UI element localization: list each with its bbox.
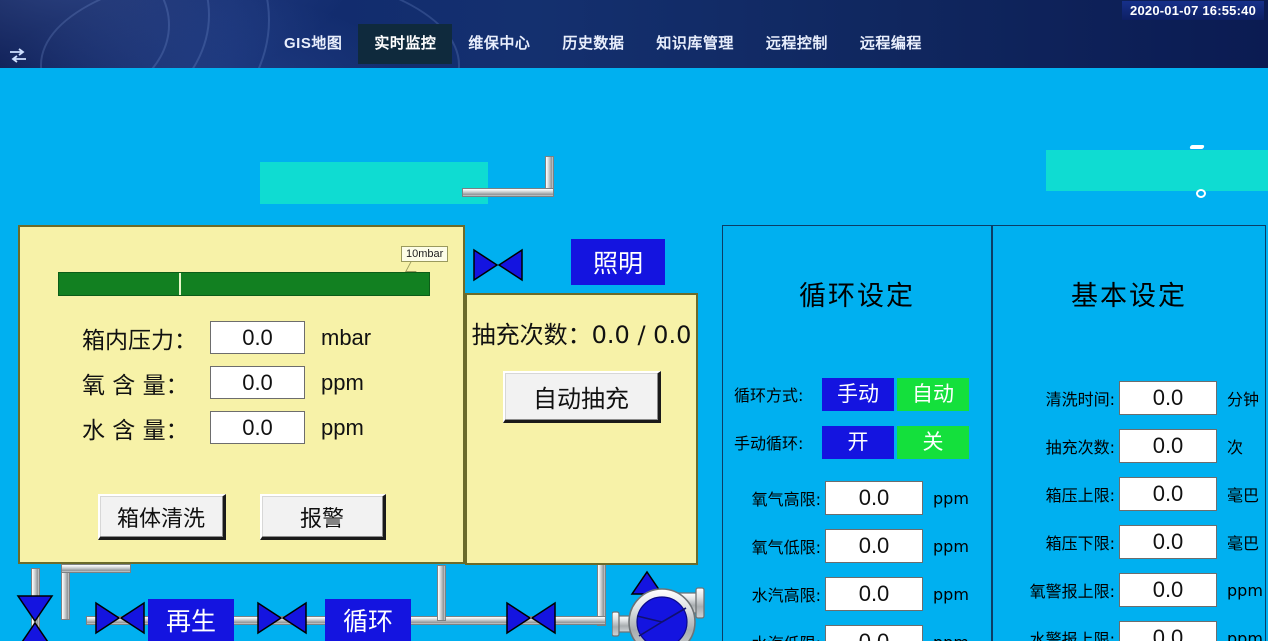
nav-left-spacer [0, 24, 268, 64]
pipe-top-horizontal [462, 188, 554, 197]
field-label: 箱压上限: [993, 482, 1119, 506]
basic-settings-title: 基本设定 [993, 226, 1265, 313]
valve-before-regen[interactable] [94, 599, 146, 637]
field-unit: 次 [1227, 434, 1243, 458]
field-label: 氧警报上限: [993, 578, 1119, 602]
pressure-bar-marker [179, 273, 181, 295]
readout-unit: ppm [321, 370, 364, 396]
oxygen-low-limit-input[interactable]: 0.0 [825, 529, 923, 563]
regeneration-button[interactable]: 再生 [148, 599, 234, 641]
valve-top-left[interactable] [472, 246, 524, 284]
field-label: 氧气低限: [723, 534, 825, 558]
process-canvas: 再生 循环 工作气 净化柱 风机 真空泵 照明 10mbar 箱内压力： 0.0… [0, 68, 1268, 641]
water-alarm-limit-input[interactable]: 0.0 [1119, 621, 1217, 641]
fill-count-display: 抽充次数：0.0 / 0.0 [467, 315, 696, 350]
readout-unit: ppm [321, 415, 364, 441]
fill-count-label: 抽充次数： [472, 321, 592, 349]
readout-label: 水 含 量： [82, 411, 210, 445]
readout-label: 箱内压力： [82, 321, 210, 355]
render-artifact-dash [1189, 145, 1204, 149]
fill-count-input[interactable]: 0.0 [1119, 429, 1217, 463]
clean-time-row: 清洗时间: 0.0 分钟 [993, 374, 1265, 422]
placeholder-region-right [1046, 150, 1268, 191]
auto-fill-button-wrap: 自动抽充 [467, 371, 696, 423]
pressure-upper-limit-row: 箱压上限: 0.0 毫巴 [993, 470, 1265, 518]
field-label: 抽充次数: [993, 434, 1119, 458]
field-unit: 毫巴 [1227, 530, 1259, 554]
cycle-settings-title: 循环设定 [723, 226, 991, 313]
cycle-toggle-list: 循环方式: 手动 自动 手动循环: 开 关 [723, 374, 991, 470]
readout-oxygen-content: 氧 含 量： 0.0 ppm [20, 360, 463, 405]
pressure-lower-limit-row: 箱压下限: 0.0 毫巴 [993, 518, 1265, 566]
moisture-high-limit-input[interactable]: 0.0 [825, 577, 923, 611]
pressure-upper-limit-input[interactable]: 0.0 [1119, 477, 1217, 511]
manual-cycle-row: 手动循环: 开 关 [723, 422, 991, 462]
manual-cycle-off-option[interactable]: 关 [897, 426, 969, 459]
field-label: 清洗时间: [993, 386, 1119, 410]
pressure-bar-gauge [58, 272, 430, 296]
main-nav: GIS地图 实时监控 维保中心 历史数据 知识库管理 远程控制 远程编程 [0, 24, 1268, 64]
nav-item-remote-control[interactable]: 远程控制 [750, 24, 844, 64]
oxygen-high-limit-row: 氧气高限: 0.0 ppm [723, 474, 991, 522]
pressure-range-label: 10mbar [401, 246, 448, 262]
moisture-high-limit-row: 水汽高限: 0.0 ppm [723, 570, 991, 618]
readout-chamber-pressure: 箱内压力： 0.0 mbar [20, 315, 463, 360]
pipe-fan-riser [437, 565, 446, 621]
circulation-button[interactable]: 循环 [325, 599, 411, 641]
valve-work-gas[interactable] [14, 594, 56, 641]
nav-item-remote-programming[interactable]: 远程编程 [844, 24, 938, 64]
field-label: 箱压下限: [993, 530, 1119, 554]
auto-fill-button[interactable]: 自动抽充 [503, 371, 661, 423]
field-label: 氧气高限: [723, 486, 825, 510]
oxygen-content-value[interactable]: 0.0 [210, 366, 305, 399]
clean-time-input[interactable]: 0.0 [1119, 381, 1217, 415]
basic-settings-panel: 基本设定 清洗时间: 0.0 分钟 抽充次数: 0.0 次 箱压上限: 0.0 … [992, 225, 1266, 641]
datetime-display: 2020-01-07 16:55:40 [1122, 1, 1264, 20]
field-unit: 分钟 [1227, 386, 1259, 410]
vacuum-pump-icon[interactable] [612, 580, 708, 641]
alarm-button[interactable]: 报警 [260, 494, 386, 540]
oxygen-high-limit-input[interactable]: 0.0 [825, 481, 923, 515]
field-unit: ppm [933, 633, 969, 641]
cycle-mode-row: 循环方式: 手动 自动 [723, 374, 991, 414]
nav-item-realtime-monitor[interactable]: 实时监控 [358, 24, 452, 64]
lighting-button[interactable]: 照明 [571, 239, 665, 285]
swap-arrows-icon[interactable] [8, 46, 28, 66]
field-unit: 毫巴 [1227, 482, 1259, 506]
cycle-mode-manual-option[interactable]: 手动 [822, 378, 894, 411]
valve-before-pump[interactable] [505, 599, 557, 637]
chamber-status-panel: 10mbar 箱内压力： 0.0 mbar 氧 含 量： 0.0 ppm 水 含… [18, 225, 465, 564]
nav-item-maintenance-center[interactable]: 维保中心 [452, 24, 546, 64]
fill-count-value: 0.0 / 0.0 [592, 321, 692, 349]
field-unit: ppm [1227, 629, 1263, 641]
field-label: 水汽高限: [723, 582, 825, 606]
oxygen-low-limit-row: 氧气低限: 0.0 ppm [723, 522, 991, 570]
field-label: 水警报上限: [993, 626, 1119, 641]
hmi-screen: 2020-01-07 16:55:40 GIS地图 实时监控 维保中心 历史数据… [0, 0, 1268, 641]
moisture-low-limit-input[interactable]: 0.0 [825, 625, 923, 641]
fill-cycle-panel: 抽充次数：0.0 / 0.0 自动抽充 [465, 293, 698, 565]
field-label: 水汽低限: [723, 630, 825, 641]
placeholder-region-left [260, 162, 488, 204]
water-content-value[interactable]: 0.0 [210, 411, 305, 444]
field-unit: ppm [933, 489, 969, 508]
readout-water-content: 水 含 量： 0.0 ppm [20, 405, 463, 450]
readout-list: 箱内压力： 0.0 mbar 氧 含 量： 0.0 ppm 水 含 量： 0.0… [20, 315, 463, 450]
field-unit: ppm [933, 585, 969, 604]
moisture-low-limit-row: 水汽低限: 0.0 ppm [723, 618, 991, 641]
render-artifact-ring [1196, 189, 1206, 198]
water-alarm-limit-row: 水警报上限: 0.0 ppm [993, 614, 1265, 641]
cycle-settings-panel: 循环设定 循环方式: 手动 自动 手动循环: 开 关 氧气高限: [722, 225, 992, 641]
nav-item-gis-map[interactable]: GIS地图 [268, 24, 358, 64]
pipe-left-elbow-top [61, 564, 131, 573]
cycle-field-list: 氧气高限: 0.0 ppm 氧气低限: 0.0 ppm 水汽高限: 0.0 pp… [723, 474, 991, 641]
valve-between-regen-cycle[interactable] [256, 599, 308, 637]
readout-label: 氧 含 量： [82, 366, 210, 400]
pressure-lower-limit-input[interactable]: 0.0 [1119, 525, 1217, 559]
field-unit: ppm [1227, 581, 1263, 600]
cycle-mode-label: 循环方式: [734, 382, 822, 406]
cycle-mode-auto-option[interactable]: 自动 [897, 378, 969, 411]
field-unit: ppm [933, 537, 969, 556]
manual-cycle-on-option[interactable]: 开 [822, 426, 894, 459]
chamber-pressure-value[interactable]: 0.0 [210, 321, 305, 354]
basic-field-list: 清洗时间: 0.0 分钟 抽充次数: 0.0 次 箱压上限: 0.0 毫巴 箱压… [993, 374, 1265, 641]
fill-count-row: 抽充次数: 0.0 次 [993, 422, 1265, 470]
chamber-action-buttons: 箱体清洗 报警 [20, 494, 463, 540]
nav-item-knowledge-base[interactable]: 知识库管理 [640, 24, 750, 64]
manual-cycle-label: 手动循环: [734, 430, 822, 454]
oxygen-alarm-limit-row: 氧警报上限: 0.0 ppm [993, 566, 1265, 614]
app-header: 2020-01-07 16:55:40 GIS地图 实时监控 维保中心 历史数据… [0, 0, 1268, 68]
cabinet-clean-button[interactable]: 箱体清洗 [98, 494, 226, 540]
readout-unit: mbar [321, 325, 371, 351]
oxygen-alarm-limit-input[interactable]: 0.0 [1119, 573, 1217, 607]
nav-item-history-data[interactable]: 历史数据 [546, 24, 640, 64]
